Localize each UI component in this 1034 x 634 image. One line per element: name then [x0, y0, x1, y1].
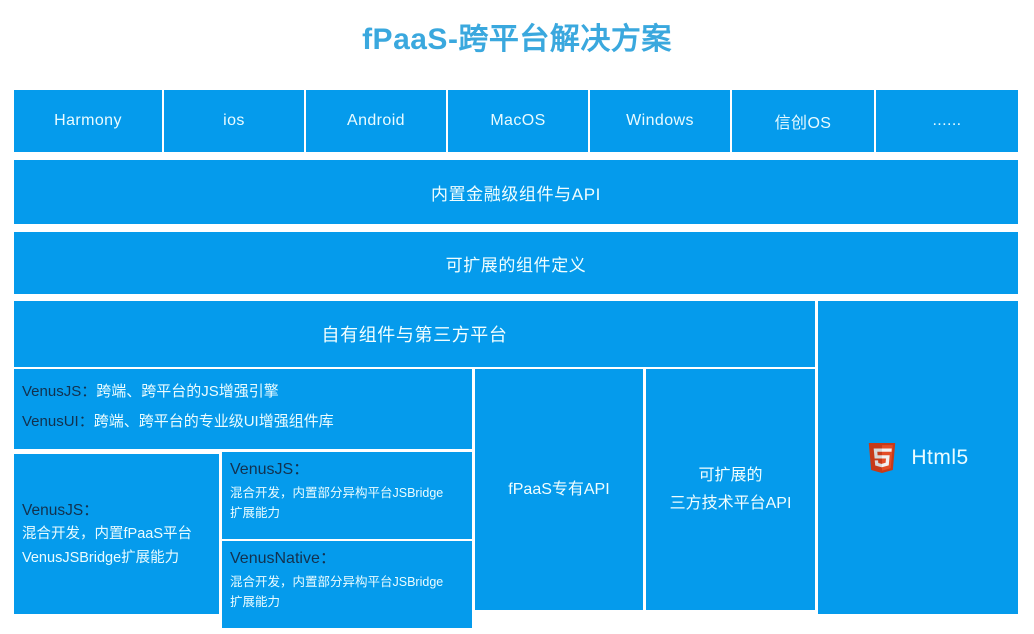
venus-summary-value: 跨端、跨平台的JS增强引擎 [96, 383, 279, 400]
band-label: 自有组件与第三方平台 [322, 321, 508, 347]
venus-summary-block[interactable]: VenusJS：跨端、跨平台的JS增强引擎 VenusUI：跨端、跨平台的专业级… [14, 369, 472, 449]
band-label: 可扩展的组件定义 [446, 251, 587, 276]
fpaas-proprietary-api-label: fPaaS专有API [508, 476, 609, 503]
platform-label: Harmony [54, 112, 122, 130]
api-line-2: 三方技术平台API [670, 490, 792, 517]
venusnative-line: 混合开发，内置部分异构平台JSBridge [230, 572, 464, 592]
fpaas-proprietary-api-column[interactable]: fPaaS专有API [475, 369, 643, 610]
venusnative-block[interactable]: VenusNative： 混合开发，内置部分异构平台JSBridge 扩展能力 [222, 541, 472, 628]
platform-label: Windows [626, 112, 694, 130]
venusnative-line: 扩展能力 [230, 592, 464, 612]
platform-cell-windows[interactable]: Windows [590, 90, 730, 152]
platform-cell-harmony[interactable]: Harmony [14, 90, 162, 152]
page-title: fPaaS-跨平台解决方案 [0, 14, 1034, 58]
platform-cell-more[interactable]: ...... [876, 90, 1018, 152]
venus-summary-key: VenusJS： [22, 383, 96, 400]
html5-column[interactable]: Html5 [818, 301, 1018, 614]
platform-label: Android [347, 112, 405, 130]
platform-cell-android[interactable]: Android [306, 90, 446, 152]
band-label: 内置金融级组件与API [431, 180, 601, 205]
html5-label: Html5 [911, 446, 968, 470]
venus-summary-key: VenusUI： [22, 413, 94, 430]
thirdparty-platform-api-label: 可扩展的 三方技术平台API [670, 462, 792, 516]
venusjs-heterogeneous-block[interactable]: VenusJS： 混合开发，内置部分异构平台JSBridge 扩展能力 [222, 452, 472, 539]
api-line-1: fPaaS专有API [508, 476, 609, 503]
venus-summary-value: 跨端、跨平台的专业级UI增强组件库 [94, 413, 334, 430]
venusnative-heading: VenusNative： [230, 546, 464, 572]
band-builtin-financial-components[interactable]: 内置金融级组件与API [14, 160, 1018, 224]
api-line-1: 可扩展的 [670, 462, 792, 489]
diagram-canvas: fPaaS-跨平台解决方案 Harmony ios Android MacOS … [0, 0, 1034, 634]
platform-label: MacOS [490, 112, 545, 130]
venus-summary-row: VenusJS：跨端、跨平台的JS增强引擎 [22, 377, 464, 407]
platform-cell-xinchuangos[interactable]: 信创OS [732, 90, 874, 152]
platform-label: ...... [932, 112, 961, 130]
band-own-and-thirdparty-components[interactable]: 自有组件与第三方平台 [14, 301, 815, 367]
venusjs-fpaas-line: VenusJSBridge扩展能力 [22, 547, 211, 570]
venusjs-fpaas-block[interactable]: VenusJS： 混合开发，内置fPaaS平台 VenusJSBridge扩展能… [14, 454, 219, 614]
platform-cell-macos[interactable]: MacOS [448, 90, 588, 152]
html5-logo-icon [867, 441, 897, 475]
platform-cell-ios[interactable]: ios [164, 90, 304, 152]
band-extensible-component-definition[interactable]: 可扩展的组件定义 [14, 232, 1018, 294]
venusjs-fpaas-heading: VenusJS： [22, 498, 211, 523]
venusjs-heterogeneous-line: 扩展能力 [230, 503, 464, 523]
venusjs-heterogeneous-line: 混合开发，内置部分异构平台JSBridge [230, 483, 464, 503]
venusjs-fpaas-line: 混合开发，内置fPaaS平台 [22, 523, 211, 546]
thirdparty-platform-api-column[interactable]: 可扩展的 三方技术平台API [646, 369, 815, 610]
platform-label: 信创OS [775, 109, 832, 133]
venus-summary-row: VenusUI：跨端、跨平台的专业级UI增强组件库 [22, 407, 464, 437]
html5-badge: Html5 [867, 441, 968, 475]
venusjs-heterogeneous-heading: VenusJS： [230, 457, 464, 483]
platform-label: ios [223, 112, 245, 130]
